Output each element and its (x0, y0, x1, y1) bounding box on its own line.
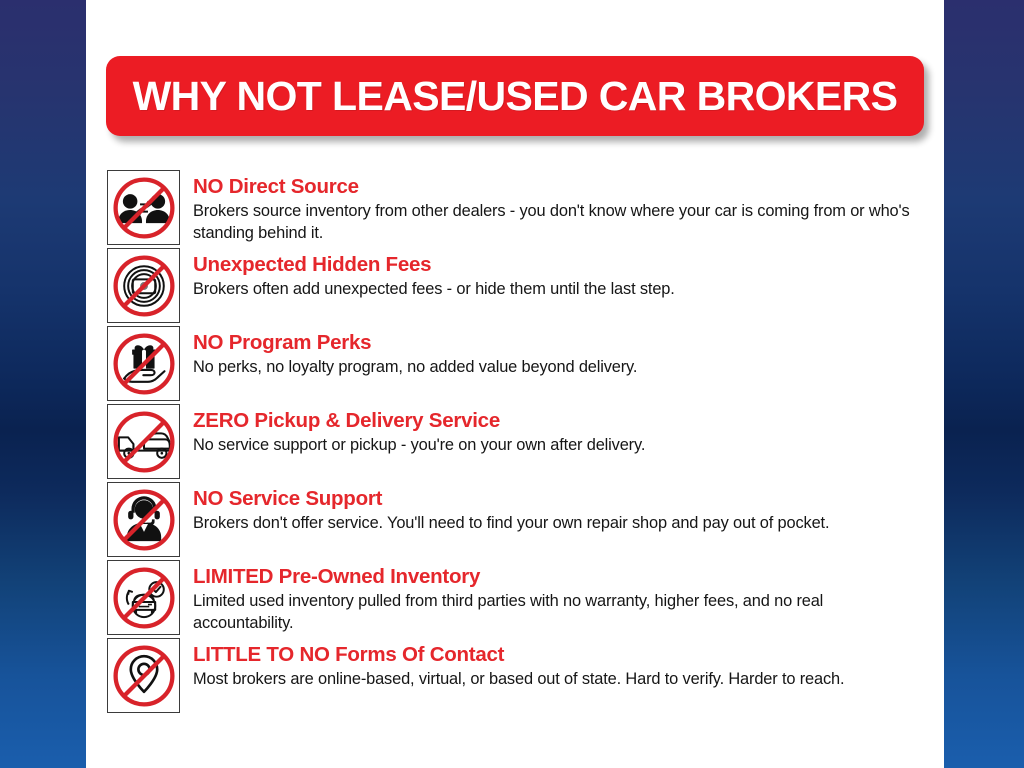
no-service-support-icon (107, 482, 180, 557)
list-item-description: Brokers don't offer service. You'll need… (193, 513, 927, 535)
list-item-text: LIMITED Pre-Owned Inventory Limited used… (193, 560, 927, 635)
no-forms-of-contact-icon (107, 638, 180, 713)
title-banner: WHY NOT LEASE/USED CAR BROKERS (106, 56, 924, 136)
page-title: WHY NOT LEASE/USED CAR BROKERS (133, 73, 898, 120)
no-pickup-delivery-icon (107, 404, 180, 479)
list-item: LIMITED Pre-Owned Inventory Limited used… (107, 560, 927, 635)
no-hidden-fees-icon (107, 248, 180, 323)
content-panel: WHY NOT LEASE/USED CAR BROKERS (86, 0, 944, 768)
list-item-text: NO Program Perks No perks, no loyalty pr… (193, 326, 927, 379)
list-item: NO Direct Source Brokers source inventor… (107, 170, 927, 245)
list-item-title: ZERO Pickup & Delivery Service (193, 410, 927, 432)
list-item-title: LITTLE TO NO Forms Of Contact (193, 644, 927, 666)
list-item: LITTLE TO NO Forms Of Contact Most broke… (107, 638, 927, 713)
list-item-title: NO Program Perks (193, 332, 927, 354)
list-item-description: Most brokers are online-based, virtual, … (193, 669, 927, 691)
list-item-text: NO Direct Source Brokers source inventor… (193, 170, 927, 245)
reasons-list: NO Direct Source Brokers source inventor… (107, 170, 927, 716)
limited-preowned-inventory-icon (107, 560, 180, 635)
list-item-description: Brokers often add unexpected fees - or h… (193, 279, 927, 301)
list-item-title: Unexpected Hidden Fees (193, 254, 927, 276)
list-item: Unexpected Hidden Fees Brokers often add… (107, 248, 927, 323)
list-item-text: Unexpected Hidden Fees Brokers often add… (193, 248, 927, 301)
list-item: ZERO Pickup & Delivery Service No servic… (107, 404, 927, 479)
list-item: NO Program Perks No perks, no loyalty pr… (107, 326, 927, 401)
list-item-text: LITTLE TO NO Forms Of Contact Most broke… (193, 638, 927, 691)
no-direct-source-icon (107, 170, 180, 245)
list-item-title: LIMITED Pre-Owned Inventory (193, 566, 927, 588)
list-item-title: NO Service Support (193, 488, 927, 510)
list-item-description: Brokers source inventory from other deal… (193, 201, 927, 245)
no-program-perks-icon (107, 326, 180, 401)
list-item-description: Limited used inventory pulled from third… (193, 591, 927, 635)
list-item-text: ZERO Pickup & Delivery Service No servic… (193, 404, 927, 457)
list-item-description: No perks, no loyalty program, no added v… (193, 357, 927, 379)
list-item-text: NO Service Support Brokers don't offer s… (193, 482, 927, 535)
list-item: NO Service Support Brokers don't offer s… (107, 482, 927, 557)
list-item-description: No service support or pickup - you're on… (193, 435, 927, 457)
title-banner-wrapper: WHY NOT LEASE/USED CAR BROKERS (106, 56, 924, 136)
list-item-title: NO Direct Source (193, 176, 927, 198)
